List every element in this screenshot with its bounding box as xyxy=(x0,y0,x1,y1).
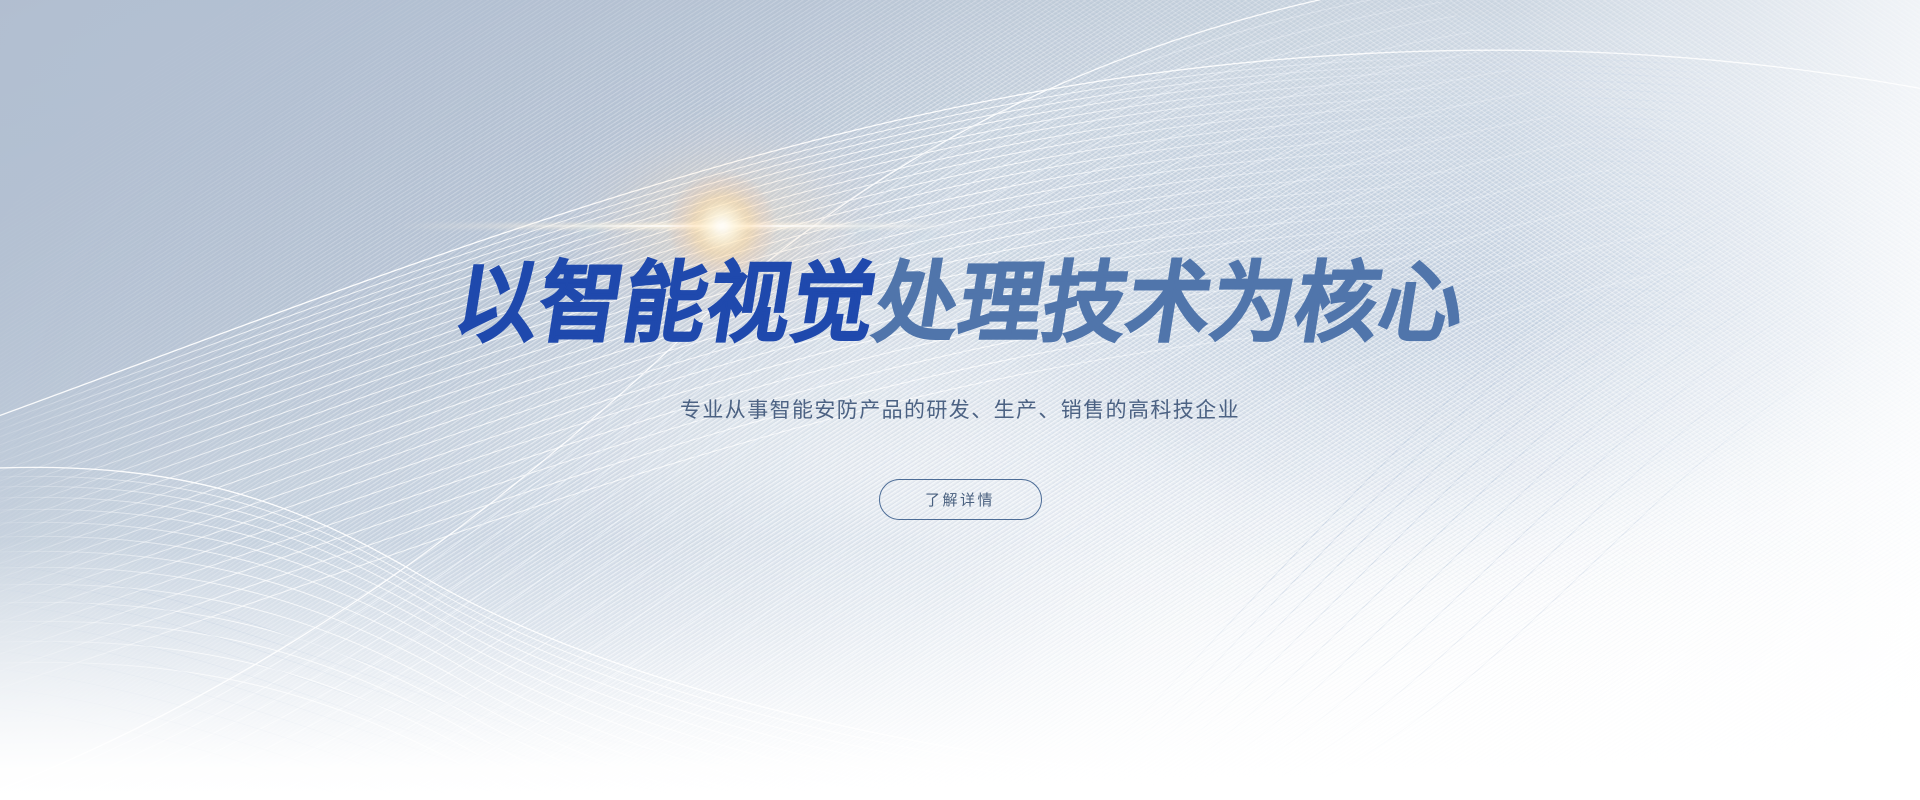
hero-banner: 以智能视觉处理技术为核心 专业从事智能安防产品的研发、生产、销售的高科技企业 了… xyxy=(0,0,1920,800)
bottom-edge-fade xyxy=(0,540,1920,800)
page-subtitle: 专业从事智能安防产品的研发、生产、销售的高科技企业 xyxy=(680,395,1240,427)
hero-content: 以智能视觉处理技术为核心 专业从事智能安防产品的研发、生产、销售的高科技企业 了… xyxy=(0,0,1920,520)
page-title: 以智能视觉处理技术为核心 xyxy=(449,260,1471,348)
page-title-segment-secondary: 处理技术为核心 xyxy=(868,252,1472,355)
learn-more-button[interactable]: 了解详情 xyxy=(879,479,1042,520)
page-title-segment-primary: 以智能视觉 xyxy=(448,252,884,355)
